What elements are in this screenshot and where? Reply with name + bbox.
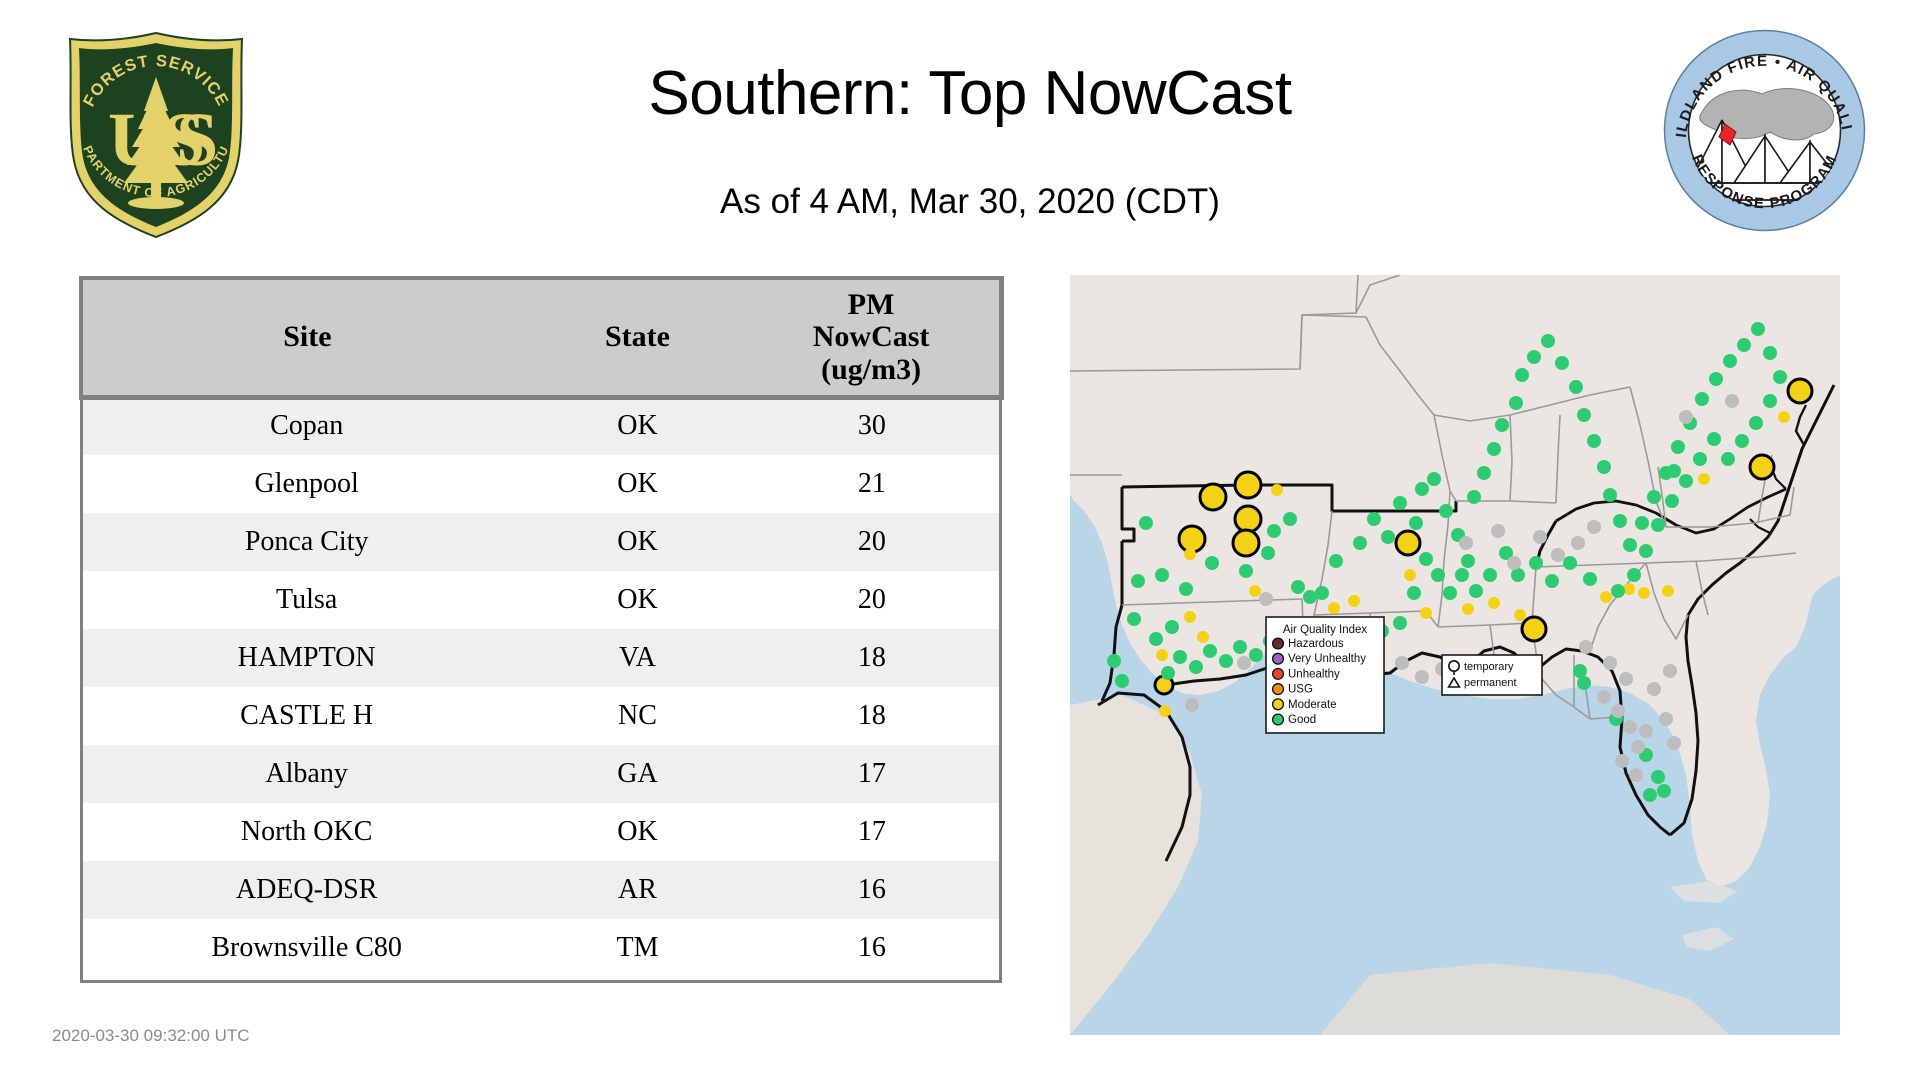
- footer-timestamp: 2020-03-30 09:32:00 UTC: [52, 1026, 250, 1046]
- pm-nowcast-cell: 17: [743, 745, 1000, 803]
- aqi-legend-swatch: [1273, 684, 1284, 695]
- site-cell: Copan: [82, 397, 532, 455]
- state-cell: OK: [532, 513, 743, 571]
- table-row: CopanOK30: [82, 397, 1001, 455]
- state-cell: OK: [532, 455, 743, 513]
- state-cell: NC: [532, 687, 743, 745]
- table-row: North OKCOK17: [82, 803, 1001, 861]
- site-cell: CASTLE H: [82, 687, 532, 745]
- state-cell: VA: [532, 629, 743, 687]
- pm-nowcast-cell: 20: [743, 513, 1000, 571]
- site-marker-hampton: [1788, 379, 1812, 403]
- site-marker-albany: [1522, 617, 1546, 641]
- pm-nowcast-cell: 20: [743, 571, 1000, 629]
- pm-nowcast-cell: 16: [743, 861, 1000, 919]
- us-forest-service-logo: US S FOREST SERVICE DEPARTMENT OF AGRICU…: [52, 25, 260, 240]
- table-row: AlbanyGA17: [82, 745, 1001, 803]
- site-cell: Brownsville C80: [82, 919, 532, 977]
- page-title: Southern: Top NowCast: [380, 58, 1560, 129]
- state-cell: TM: [532, 919, 743, 977]
- site-cell: North OKC: [82, 803, 532, 861]
- site-type-legend-box: temporary permanent: [1442, 655, 1542, 695]
- aqi-legend-label: Good: [1288, 714, 1316, 726]
- top-nowcast-table: Site State PM NowCast (ug/m3) CopanOK30G…: [80, 277, 1002, 977]
- pm-nowcast-cell: 17: [743, 803, 1000, 861]
- wildland-fire-air-quality-logo: WILDLAND FIRE • AIR QUALITY RESPONSE PRO…: [1662, 28, 1867, 233]
- site-marker-adeq-dsr: [1396, 531, 1420, 555]
- pm-header-line-2: NowCast: [747, 321, 995, 353]
- page-subtitle: As of 4 AM, Mar 30, 2020 (CDT): [380, 182, 1560, 222]
- site-cell: Tulsa: [82, 571, 532, 629]
- slide-canvas: US S FOREST SERVICE DEPARTMENT OF AGRICU…: [0, 0, 1920, 1080]
- aqi-legend-label: Unhealthy: [1288, 668, 1340, 680]
- table-row: Ponca CityOK20: [82, 513, 1001, 571]
- aqi-legend-title: Air Quality Index: [1283, 624, 1368, 636]
- table-row: ADEQ-DSRAR16: [82, 861, 1001, 919]
- table-row: TulsaOK20: [82, 571, 1001, 629]
- aqi-legend-swatch: [1273, 714, 1284, 725]
- site-cell: HAMPTON: [82, 629, 532, 687]
- permanent-label: permanent: [1464, 677, 1517, 689]
- site-cell: Ponca City: [82, 513, 532, 571]
- column-header-pm-nowcast: PM NowCast (ug/m3): [743, 279, 1000, 397]
- site-marker-castle-h: [1750, 455, 1774, 479]
- aqi-legend-label: Moderate: [1288, 699, 1337, 711]
- table-row: CASTLE HNC18: [82, 687, 1001, 745]
- table-row: HAMPTONVA18: [82, 629, 1001, 687]
- site-cell: ADEQ-DSR: [82, 861, 532, 919]
- table-row: Brownsville C80TM16: [82, 919, 1001, 977]
- air-quality-map[interactable]: Air Quality Index HazardousVery Unhealth…: [1070, 275, 1840, 1035]
- aqi-legend-swatch: [1273, 653, 1284, 664]
- aqi-legend-label: Hazardous: [1288, 638, 1344, 650]
- aqi-legend-box: Air Quality Index HazardousVery Unhealth…: [1266, 617, 1384, 733]
- table-header-row: Site State PM NowCast (ug/m3): [82, 279, 1001, 397]
- aqi-legend-swatch: [1273, 669, 1284, 680]
- pm-header-line-1: PM: [747, 289, 995, 321]
- temporary-label: temporary: [1464, 661, 1514, 673]
- state-cell: OK: [532, 571, 743, 629]
- aqi-legend-label: USG: [1288, 684, 1313, 696]
- site-marker-copan: [1235, 472, 1261, 498]
- top-nowcast-table-container: Site State PM NowCast (ug/m3) CopanOK30G…: [80, 277, 1002, 977]
- pm-nowcast-cell: 30: [743, 397, 1000, 455]
- site-marker-ponca-city: [1200, 484, 1226, 510]
- pm-nowcast-cell: 18: [743, 629, 1000, 687]
- state-cell: GA: [532, 745, 743, 803]
- state-cell: OK: [532, 397, 743, 455]
- site-cell: Albany: [82, 745, 532, 803]
- pm-nowcast-cell: 21: [743, 455, 1000, 513]
- pm-header-line-3: (ug/m3): [747, 354, 995, 386]
- site-marker-tulsa: [1179, 526, 1205, 552]
- aqi-legend-swatch: [1273, 638, 1284, 649]
- table-row: GlenpoolOK21: [82, 455, 1001, 513]
- pm-nowcast-cell: 18: [743, 687, 1000, 745]
- site-cell: Glenpool: [82, 455, 532, 513]
- state-cell: AR: [532, 861, 743, 919]
- pm-nowcast-cell: 16: [743, 919, 1000, 977]
- table-body: CopanOK30GlenpoolOK21Ponca CityOK20Tulsa…: [82, 397, 1001, 977]
- site-marker-glenpool: [1233, 530, 1259, 556]
- column-header-site: Site: [82, 279, 532, 397]
- site-marker-north-okc: [1235, 506, 1261, 532]
- column-header-state: State: [532, 279, 743, 397]
- aqi-legend-swatch: [1273, 699, 1284, 710]
- state-cell: OK: [532, 803, 743, 861]
- aqi-legend-label: Very Unhealthy: [1288, 653, 1366, 665]
